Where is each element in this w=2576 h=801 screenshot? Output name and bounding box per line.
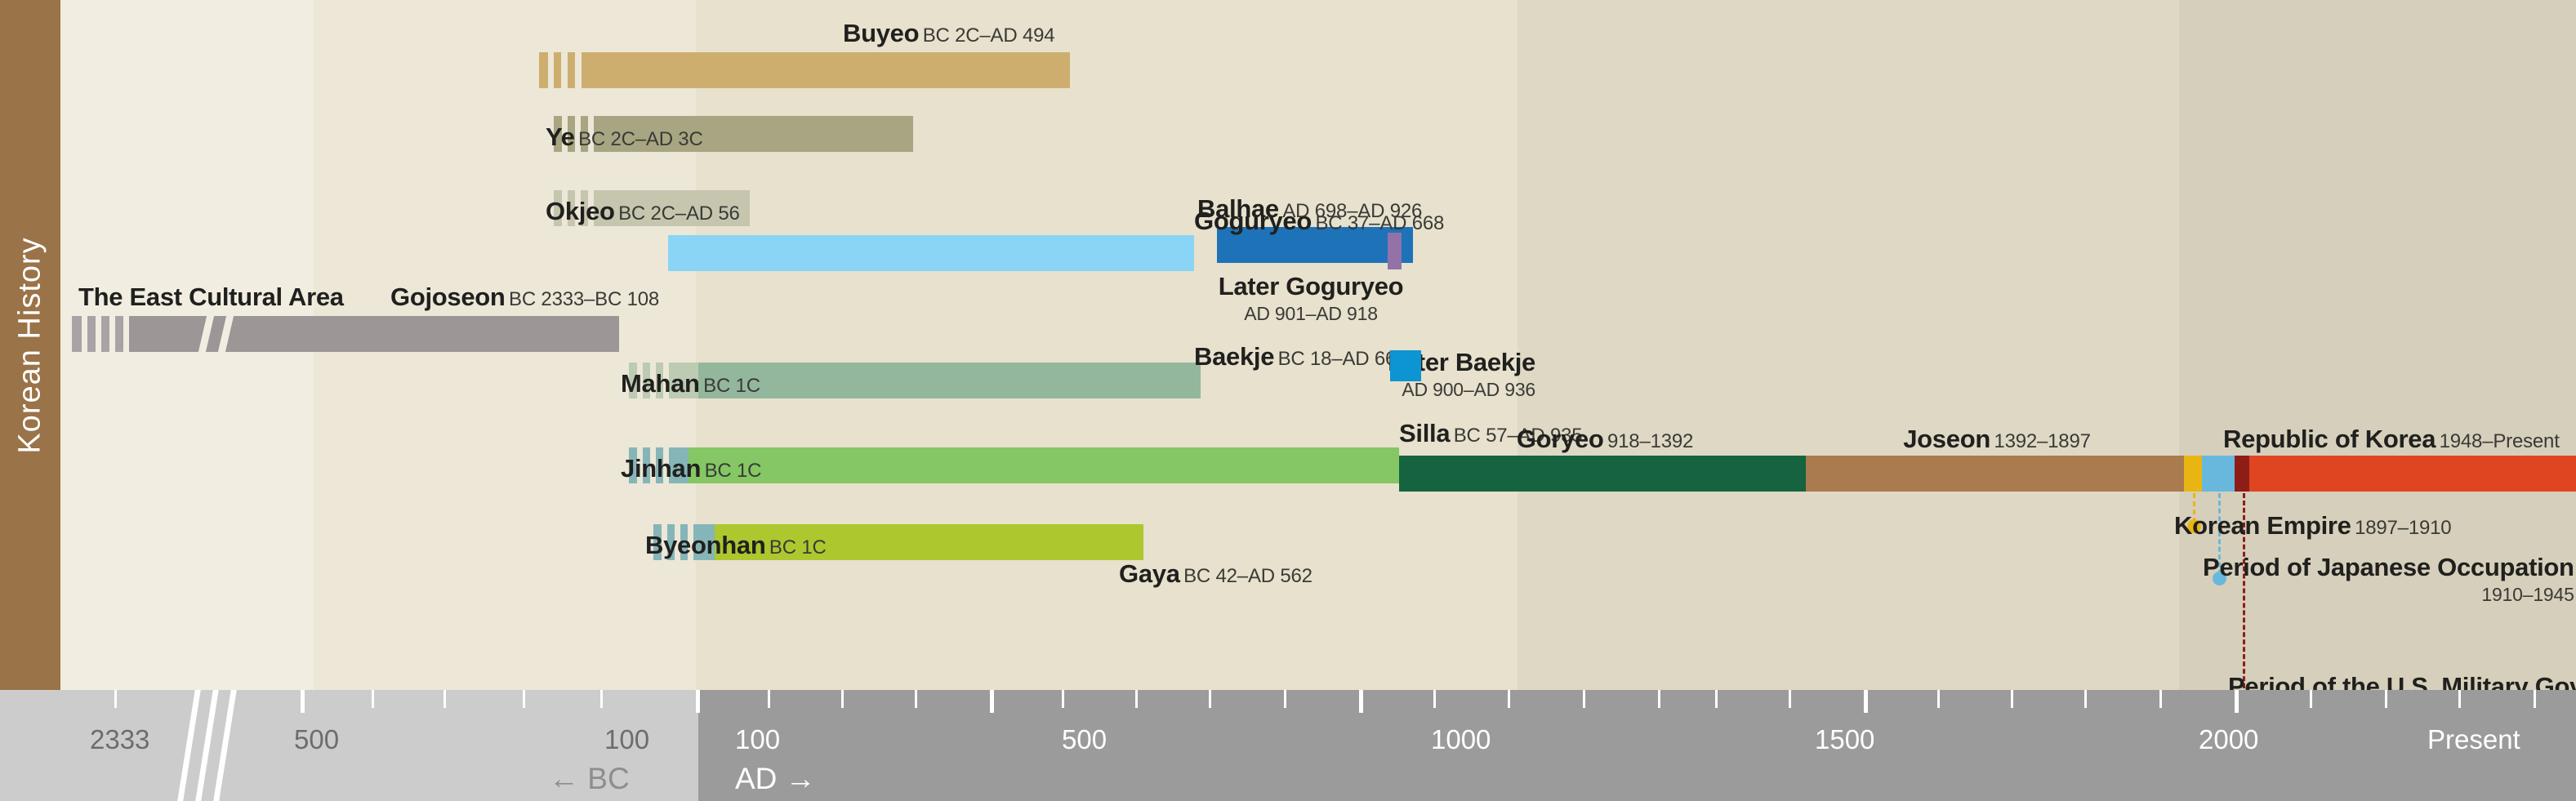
label-baekje-name: Baekje: [1194, 342, 1274, 371]
bar-silla: [689, 447, 1399, 483]
label-byeonhan-name: Byeonhan: [645, 531, 765, 559]
label-okjeo-name: Okjeo: [546, 197, 615, 225]
bar-joseon: [1806, 456, 2184, 492]
axis-tick: [443, 690, 446, 708]
label-jinhan-dates: BC 1C: [705, 460, 762, 482]
label-gojoseon: Gojoseon BC 2333–BC 108: [390, 284, 659, 309]
axis-label-ad-1500: 1500: [1815, 724, 1874, 755]
label-goryeo: Goryeo 918–1392: [1470, 426, 1740, 452]
label-balhae: Balhae AD 698–AD 926: [1197, 196, 1422, 221]
bar-goguryeo: [668, 235, 1194, 271]
axis-tick: [768, 690, 770, 708]
label-buyeo-name: Buyeo: [843, 19, 919, 47]
label-republic-of-korea: Republic of Korea 1948–Present: [2223, 426, 2560, 452]
label-buyeo: Buyeo BC 2C–AD 494: [843, 20, 1054, 46]
label-east-cultural-area: The East Cultural Area: [78, 284, 344, 309]
axis-tick: [1508, 690, 1510, 708]
bar-goryeo: [1399, 456, 1806, 492]
label-east-cultural-area-name: The East Cultural Area: [78, 283, 344, 311]
label-korean-empire-dates: 1897–1910: [2355, 517, 2451, 539]
label-gaya: Gaya BC 42–AD 562: [1119, 561, 1313, 586]
axis-tick: [2534, 690, 2536, 708]
axis-tick: [2310, 690, 2312, 708]
bar-buyeo: [539, 52, 1070, 88]
label-ye-dates: BC 2C–AD 3C: [578, 128, 703, 150]
label-byeonhan-dates: BC 1C: [769, 536, 827, 558]
label-gaya-name: Gaya: [1119, 559, 1180, 588]
axis-tick: [2385, 690, 2387, 708]
label-silla-name: Silla: [1399, 419, 1450, 447]
bg-zone-ad2: [1518, 0, 2179, 690]
axis-tick: [696, 690, 700, 713]
label-later-goguryeo: Later Goguryeo AD 901–AD 918: [1217, 271, 1405, 325]
axis-label-bc-100: 100: [604, 724, 649, 755]
axis-label-ad-100: 100: [735, 724, 780, 755]
label-balhae-dates: AD 698–AD 926: [1282, 200, 1422, 222]
axis-label-ad-2000: 2000: [2199, 724, 2258, 755]
label-joseon-name: Joseon: [1903, 425, 1990, 453]
label-goryeo-name: Goryeo: [1517, 425, 1604, 453]
label-japanese-occupation-name: Period of Japanese Occupation: [2203, 553, 2574, 581]
axis-tick: [841, 690, 844, 708]
label-later-goguryeo-name: Later Goguryeo: [1219, 272, 1404, 300]
axis-tick: [1864, 690, 1868, 713]
label-gojoseon-dates: BC 2333–BC 108: [509, 288, 659, 310]
axis-era-label-ad: AD →: [735, 762, 816, 796]
label-joseon: Joseon 1392–1897: [1862, 426, 2132, 452]
axis-tick: [2159, 690, 2162, 708]
label-japanese-occupation: Period of Japanese Occupation 1910–1945: [2203, 552, 2574, 606]
axis-tick: [990, 690, 994, 713]
bar-republic-of-korea: [2249, 456, 2576, 492]
korean-history-timeline: Korean History Buyeo BC 2C–AD 494 Ye BC …: [0, 0, 2576, 801]
page-title: Korean History: [13, 237, 48, 453]
label-buyeo-dates: BC 2C–AD 494: [923, 24, 1055, 47]
axis-tick: [1359, 690, 1363, 713]
bar-us-military-government: [2235, 456, 2249, 492]
axis-tick: [1583, 690, 1585, 708]
label-later-baekje-dates: AD 900–AD 936: [1380, 378, 1535, 401]
label-ye-name: Ye: [546, 122, 575, 151]
label-gaya-dates: BC 42–AD 562: [1183, 565, 1313, 587]
label-ye: Ye BC 2C–AD 3C: [546, 124, 703, 149]
label-later-goguryeo-dates: AD 901–AD 918: [1217, 302, 1405, 325]
label-mahan-name: Mahan: [621, 369, 700, 398]
axis-tick: [1715, 690, 1718, 708]
label-japanese-occupation-dates: 1910–1945: [2203, 583, 2574, 606]
label-mahan: Mahan BC 1C: [621, 371, 760, 396]
sidebar-title-rail: Korean History: [0, 0, 60, 690]
axis-tick: [2011, 690, 2013, 708]
label-republic-of-korea-dates: 1948–Present: [2440, 430, 2560, 452]
axis-tick: [600, 690, 603, 708]
label-jinhan: Jinhan BC 1C: [621, 456, 761, 481]
label-republic-of-korea-name: Republic of Korea: [2223, 425, 2436, 453]
axis-tick: [2235, 690, 2239, 713]
axis-era-label-bc: ← BC: [549, 762, 630, 796]
axis-tick: [1658, 690, 1660, 708]
label-balhae-name: Balhae: [1197, 194, 1279, 223]
axis-tick: [1209, 690, 1211, 708]
axis-tick: [372, 690, 374, 708]
axis-tick: [301, 690, 305, 713]
label-okjeo-dates: BC 2C–AD 56: [618, 202, 740, 225]
bar-later-baekje: [1390, 350, 1421, 381]
axis-label-ad-1000: 1000: [1431, 724, 1491, 755]
axis-tick: [1789, 690, 1791, 708]
axis-break-mark-3: [213, 690, 237, 801]
label-baekje: Baekje BC 18–AD 660: [1194, 344, 1406, 369]
axis-tick: [1433, 690, 1436, 708]
axis-tick: [2084, 690, 2087, 708]
axis-tick: [1062, 690, 1064, 708]
axis-tick: [114, 690, 117, 708]
bar-gojoseon: [72, 316, 619, 352]
axis-tick: [1135, 690, 1138, 708]
timeline-axis-ad-region: [698, 690, 2576, 801]
label-korean-empire-name: Korean Empire: [2174, 511, 2351, 540]
label-jinhan-name: Jinhan: [621, 454, 701, 483]
label-joseon-dates: 1392–1897: [1994, 430, 2090, 452]
axis-tick: [915, 690, 917, 708]
axis-label-bc-500: 500: [294, 724, 339, 755]
axis-label-ad-500: 500: [1062, 724, 1107, 755]
bar-korean-empire: [2184, 456, 2202, 492]
axis-label-present: Present: [2427, 724, 2520, 755]
axis-tick: [1937, 690, 1940, 708]
timeline-axis[interactable]: 2333 500 100 ← BC 100 500 1000 1500: [0, 690, 2576, 801]
label-gojoseon-name: Gojoseon: [390, 283, 506, 311]
bar-later-goguryeo: [1388, 233, 1402, 269]
axis-tick: [1284, 690, 1286, 708]
label-goryeo-dates: 918–1392: [1607, 430, 1693, 452]
axis-tick: [523, 690, 525, 708]
label-okjeo: Okjeo BC 2C–AD 56: [546, 198, 740, 224]
axis-tick: [2458, 690, 2461, 708]
axis-label-bc-2333: 2333: [90, 724, 149, 755]
label-byeonhan: Byeonhan BC 1C: [645, 532, 827, 558]
label-korean-empire: Korean Empire 1897–1910: [2174, 513, 2451, 538]
bar-japanese-occupation: [2202, 456, 2235, 492]
label-mahan-dates: BC 1C: [703, 375, 760, 397]
